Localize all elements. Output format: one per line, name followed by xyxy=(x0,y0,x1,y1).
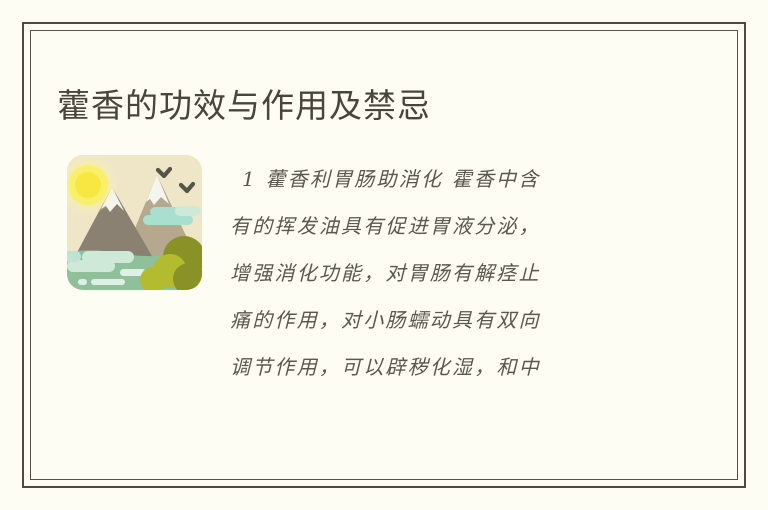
content-row: 1 藿香利胃肠助消化 霍香中含 有的挥发油具有促进胃液分泌， 增强消化功能，对胃… xyxy=(57,147,697,407)
article-body: 1 藿香利胃肠助消化 霍香中含 有的挥发油具有促进胃液分泌， 增强消化功能，对胃… xyxy=(230,156,650,391)
illustration-svg xyxy=(57,147,207,297)
article-line: 痛的作用，对小肠蠕动具有双向 xyxy=(230,297,650,344)
cloud-upper-right xyxy=(143,206,201,225)
article-line: 1 藿香利胃肠助消化 霍香中含 xyxy=(230,156,650,203)
mountain-landscape-illustration xyxy=(57,147,207,297)
article-line: 增强消化功能，对胃肠有解痉止 xyxy=(230,250,650,297)
article-line: 有的挥发油具有促进胃液分泌， xyxy=(230,203,650,250)
page-title: 藿香的功效与作用及禁忌 xyxy=(57,84,431,128)
article-line: 调节作用，可以辟秽化湿，和中 xyxy=(230,344,650,391)
page-canvas: 藿香的功效与作用及禁忌 xyxy=(0,0,768,510)
sun-core xyxy=(75,172,101,198)
